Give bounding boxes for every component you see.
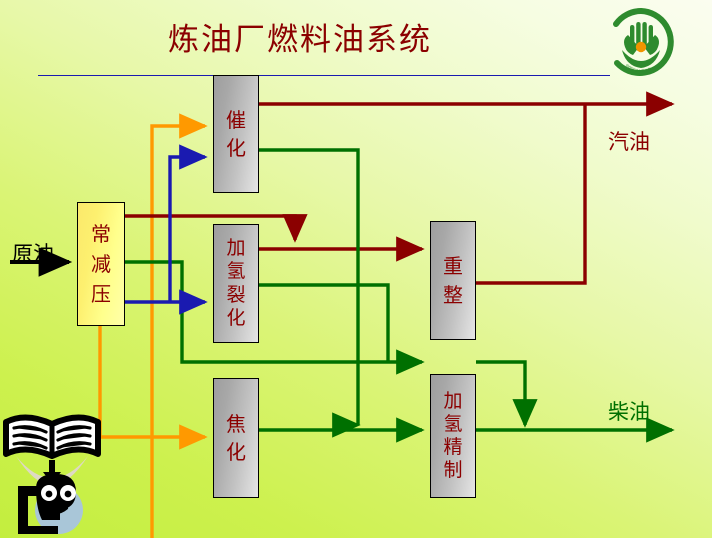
box-char: 整 xyxy=(443,281,463,309)
label-gasoline: 汽油 xyxy=(608,126,650,156)
pipe-naphtha-to-fcc xyxy=(170,157,205,302)
pipe-reformer-to-gasoline xyxy=(476,104,585,283)
book-to-reader-icon xyxy=(2,408,106,536)
box-char: 化 xyxy=(226,307,245,330)
box-char: 催 xyxy=(226,106,246,134)
pipe-residue-to-fcc xyxy=(152,126,205,538)
box-char: 常 xyxy=(91,219,111,249)
pipe-diesel-downcomer xyxy=(476,362,525,425)
box-char: 氢 xyxy=(443,413,462,436)
process-box-jiaqing-liehua[interactable]: 加 氢 裂 化 xyxy=(213,224,259,343)
box-char: 精 xyxy=(443,436,462,459)
process-box-cuihua[interactable]: 催 化 xyxy=(213,75,259,193)
box-char: 压 xyxy=(91,279,111,309)
box-char: 加 xyxy=(443,390,462,413)
box-char: 化 xyxy=(226,134,246,162)
process-box-jiaqing-jingzhi[interactable]: 加 氢 精 制 xyxy=(430,374,476,498)
box-char: 裂 xyxy=(226,284,245,307)
box-char: 重 xyxy=(443,252,463,280)
box-char: 化 xyxy=(226,438,246,466)
pipe-fcc-lgo-to-diesel xyxy=(259,150,358,425)
label-crude-oil: 原油 xyxy=(12,238,54,268)
pipe-hydrocracker-lgo-to-diesel xyxy=(259,285,388,362)
process-box-chongzheng[interactable]: 重 整 xyxy=(430,221,476,340)
box-char: 氢 xyxy=(226,260,245,283)
process-box-jiaohua[interactable]: 焦 化 xyxy=(213,378,259,498)
box-char: 加 xyxy=(226,237,245,260)
process-box-chang-jian-ya[interactable]: 常 减 压 xyxy=(77,202,125,326)
box-char: 减 xyxy=(91,249,111,279)
slide-canvas: 炼油厂燃料油系统 中国石油大学华东 xyxy=(0,0,712,538)
box-char: 制 xyxy=(443,459,462,482)
box-char: 焦 xyxy=(226,410,246,438)
label-diesel: 柴油 xyxy=(608,396,650,426)
